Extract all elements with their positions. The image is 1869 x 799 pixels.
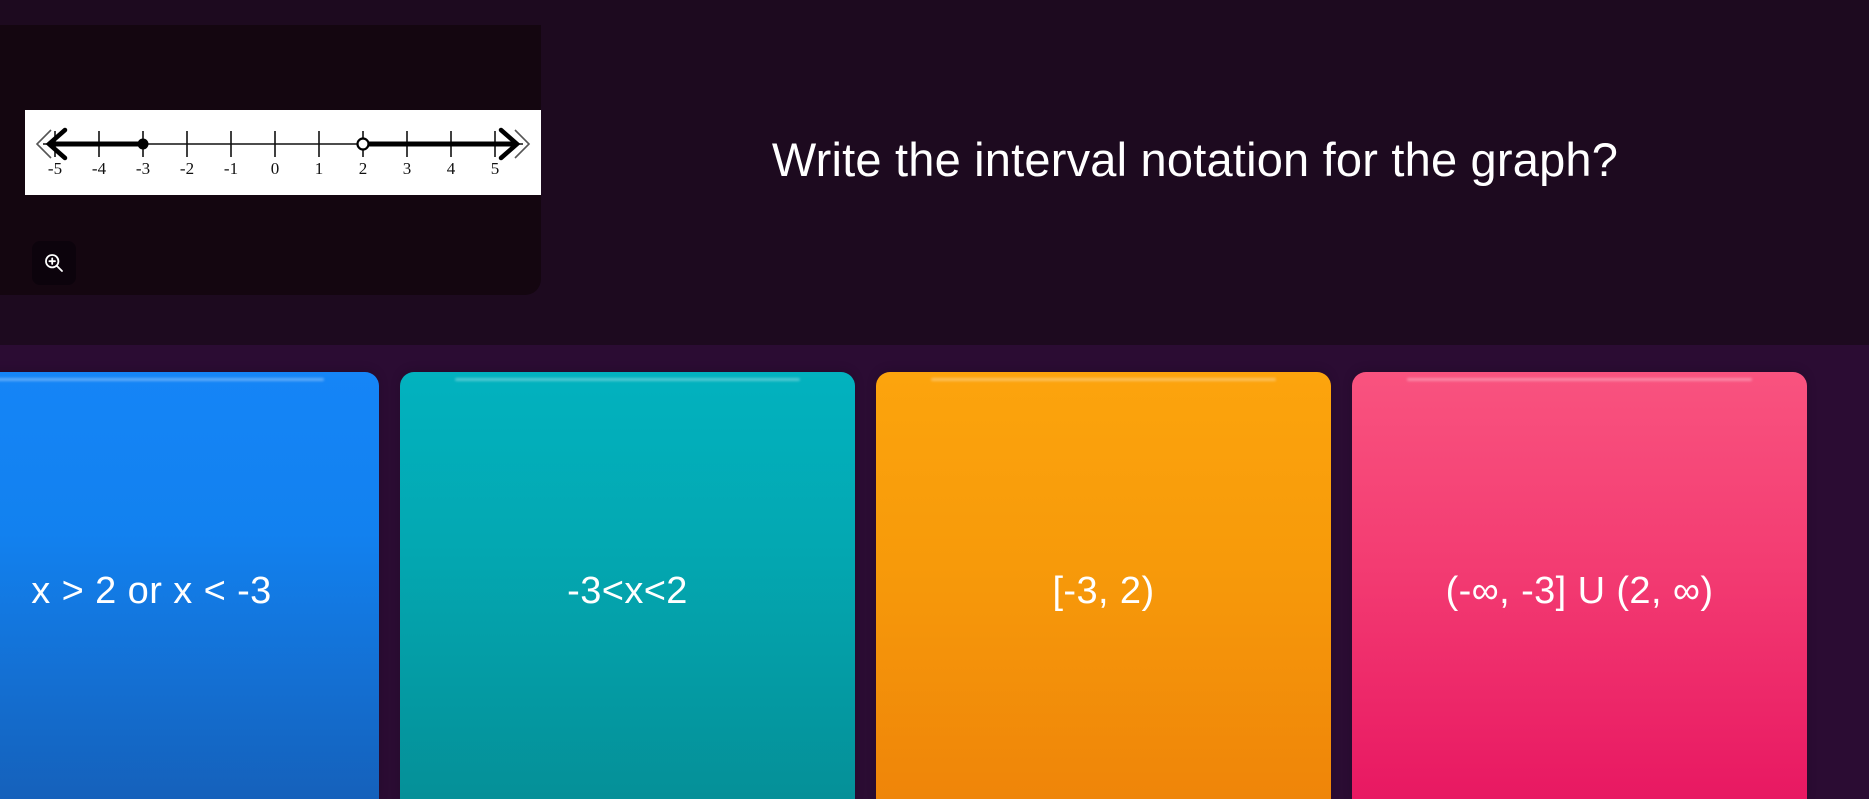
zoom-in-icon[interactable] [32, 241, 76, 285]
question-prompt: Write the interval notation for the grap… [541, 133, 1869, 187]
question-panel: -5 -4 -3 -2 -1 0 1 2 3 4 5 [0, 0, 1869, 345]
svg-text:4: 4 [447, 159, 456, 178]
answer-option-3-label: [-3, 2) [1038, 570, 1168, 613]
answers-panel: x > 2 or x < -3 -3<x<2 [-3, 2) (-∞, -3] … [0, 345, 1869, 799]
quiz-screen: -5 -4 -3 -2 -1 0 1 2 3 4 5 [0, 0, 1869, 799]
svg-text:-3: -3 [136, 159, 150, 178]
answer-option-2-label: -3<x<2 [553, 570, 702, 613]
svg-text:-1: -1 [224, 159, 238, 178]
svg-text:2: 2 [359, 159, 368, 178]
svg-text:-2: -2 [180, 159, 194, 178]
answers-row: x > 2 or x < -3 -3<x<2 [-3, 2) (-∞, -3] … [0, 372, 1869, 799]
svg-text:-5: -5 [48, 159, 62, 178]
answer-option-1[interactable]: x > 2 or x < -3 [0, 372, 379, 799]
svg-text:0: 0 [271, 159, 280, 178]
svg-text:-4: -4 [92, 159, 107, 178]
svg-text:5: 5 [491, 159, 500, 178]
number-line-graph: -5 -4 -3 -2 -1 0 1 2 3 4 5 [25, 110, 541, 195]
answer-option-4-label: (-∞, -3] U (2, ∞) [1432, 570, 1728, 613]
svg-text:3: 3 [403, 159, 412, 178]
question-media-card: -5 -4 -3 -2 -1 0 1 2 3 4 5 [0, 25, 541, 295]
question-row: -5 -4 -3 -2 -1 0 1 2 3 4 5 [0, 0, 1869, 320]
answer-option-1-label: x > 2 or x < -3 [17, 570, 285, 613]
answer-option-4[interactable]: (-∞, -3] U (2, ∞) [1352, 372, 1807, 799]
answer-option-2[interactable]: -3<x<2 [400, 372, 855, 799]
svg-text:1: 1 [315, 159, 324, 178]
answer-option-3[interactable]: [-3, 2) [876, 372, 1331, 799]
